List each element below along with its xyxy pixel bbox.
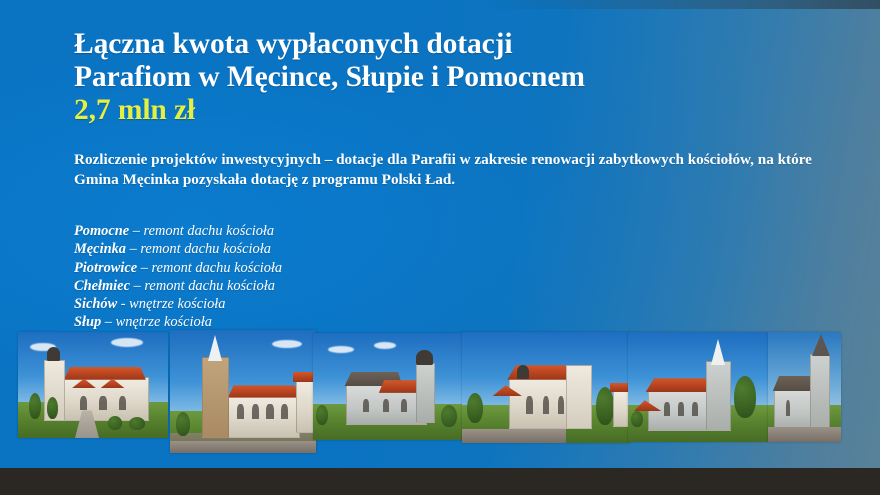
parish-place: Chełmiec [74, 278, 130, 294]
slide-title: Łączna kwota wypłaconych dotacji Parafio… [74, 28, 834, 127]
parish-place: Pomocne [74, 223, 129, 239]
title-line-2: Parafiom w Męcince, Słupie i Pomocnem [74, 61, 585, 93]
list-item: Piotrowice – remont dachu kościoła [74, 259, 554, 277]
church-photo-4 [462, 332, 630, 443]
church-photo-1 [18, 332, 168, 438]
parish-work: – remont dachu kościoła [130, 278, 275, 294]
list-item: Męcinka – remont dachu kościoła [74, 240, 554, 258]
title-line-1: Łączna kwota wypłaconych dotacji [74, 28, 512, 60]
parish-place: Męcinka [74, 241, 126, 257]
list-item: Pomocne – remont dachu kościoła [74, 222, 554, 240]
parish-work: - wnętrze kościoła [117, 296, 225, 312]
parish-work: – remont dachu kościoła [129, 223, 274, 239]
slide-description: Rozliczenie projektów inwestycyjnych – d… [74, 150, 822, 190]
church-photo-3 [313, 333, 465, 440]
parish-work: – remont dachu kościoła [137, 260, 282, 276]
church-photo-strip [0, 325, 880, 455]
presentation-slide: Łączna kwota wypłaconych dotacji Parafio… [0, 0, 880, 495]
list-item: Sichów - wnętrze kościoła [74, 295, 554, 313]
church-photo-2 [170, 330, 316, 453]
church-photo-5 [628, 332, 768, 442]
title-amount: 2,7 mln zł [74, 94, 834, 127]
list-item: Chełmiec – remont dachu kościoła [74, 277, 554, 295]
parish-place: Sichów [74, 296, 117, 312]
church-photo-6 [768, 332, 841, 442]
background-top-shade [0, 0, 880, 9]
slide-bottom-band [0, 468, 880, 495]
parish-list: Pomocne – remont dachu kościoła Męcinka … [74, 222, 554, 332]
parish-place: Piotrowice [74, 260, 137, 276]
parish-work: – remont dachu kościoła [126, 241, 271, 257]
